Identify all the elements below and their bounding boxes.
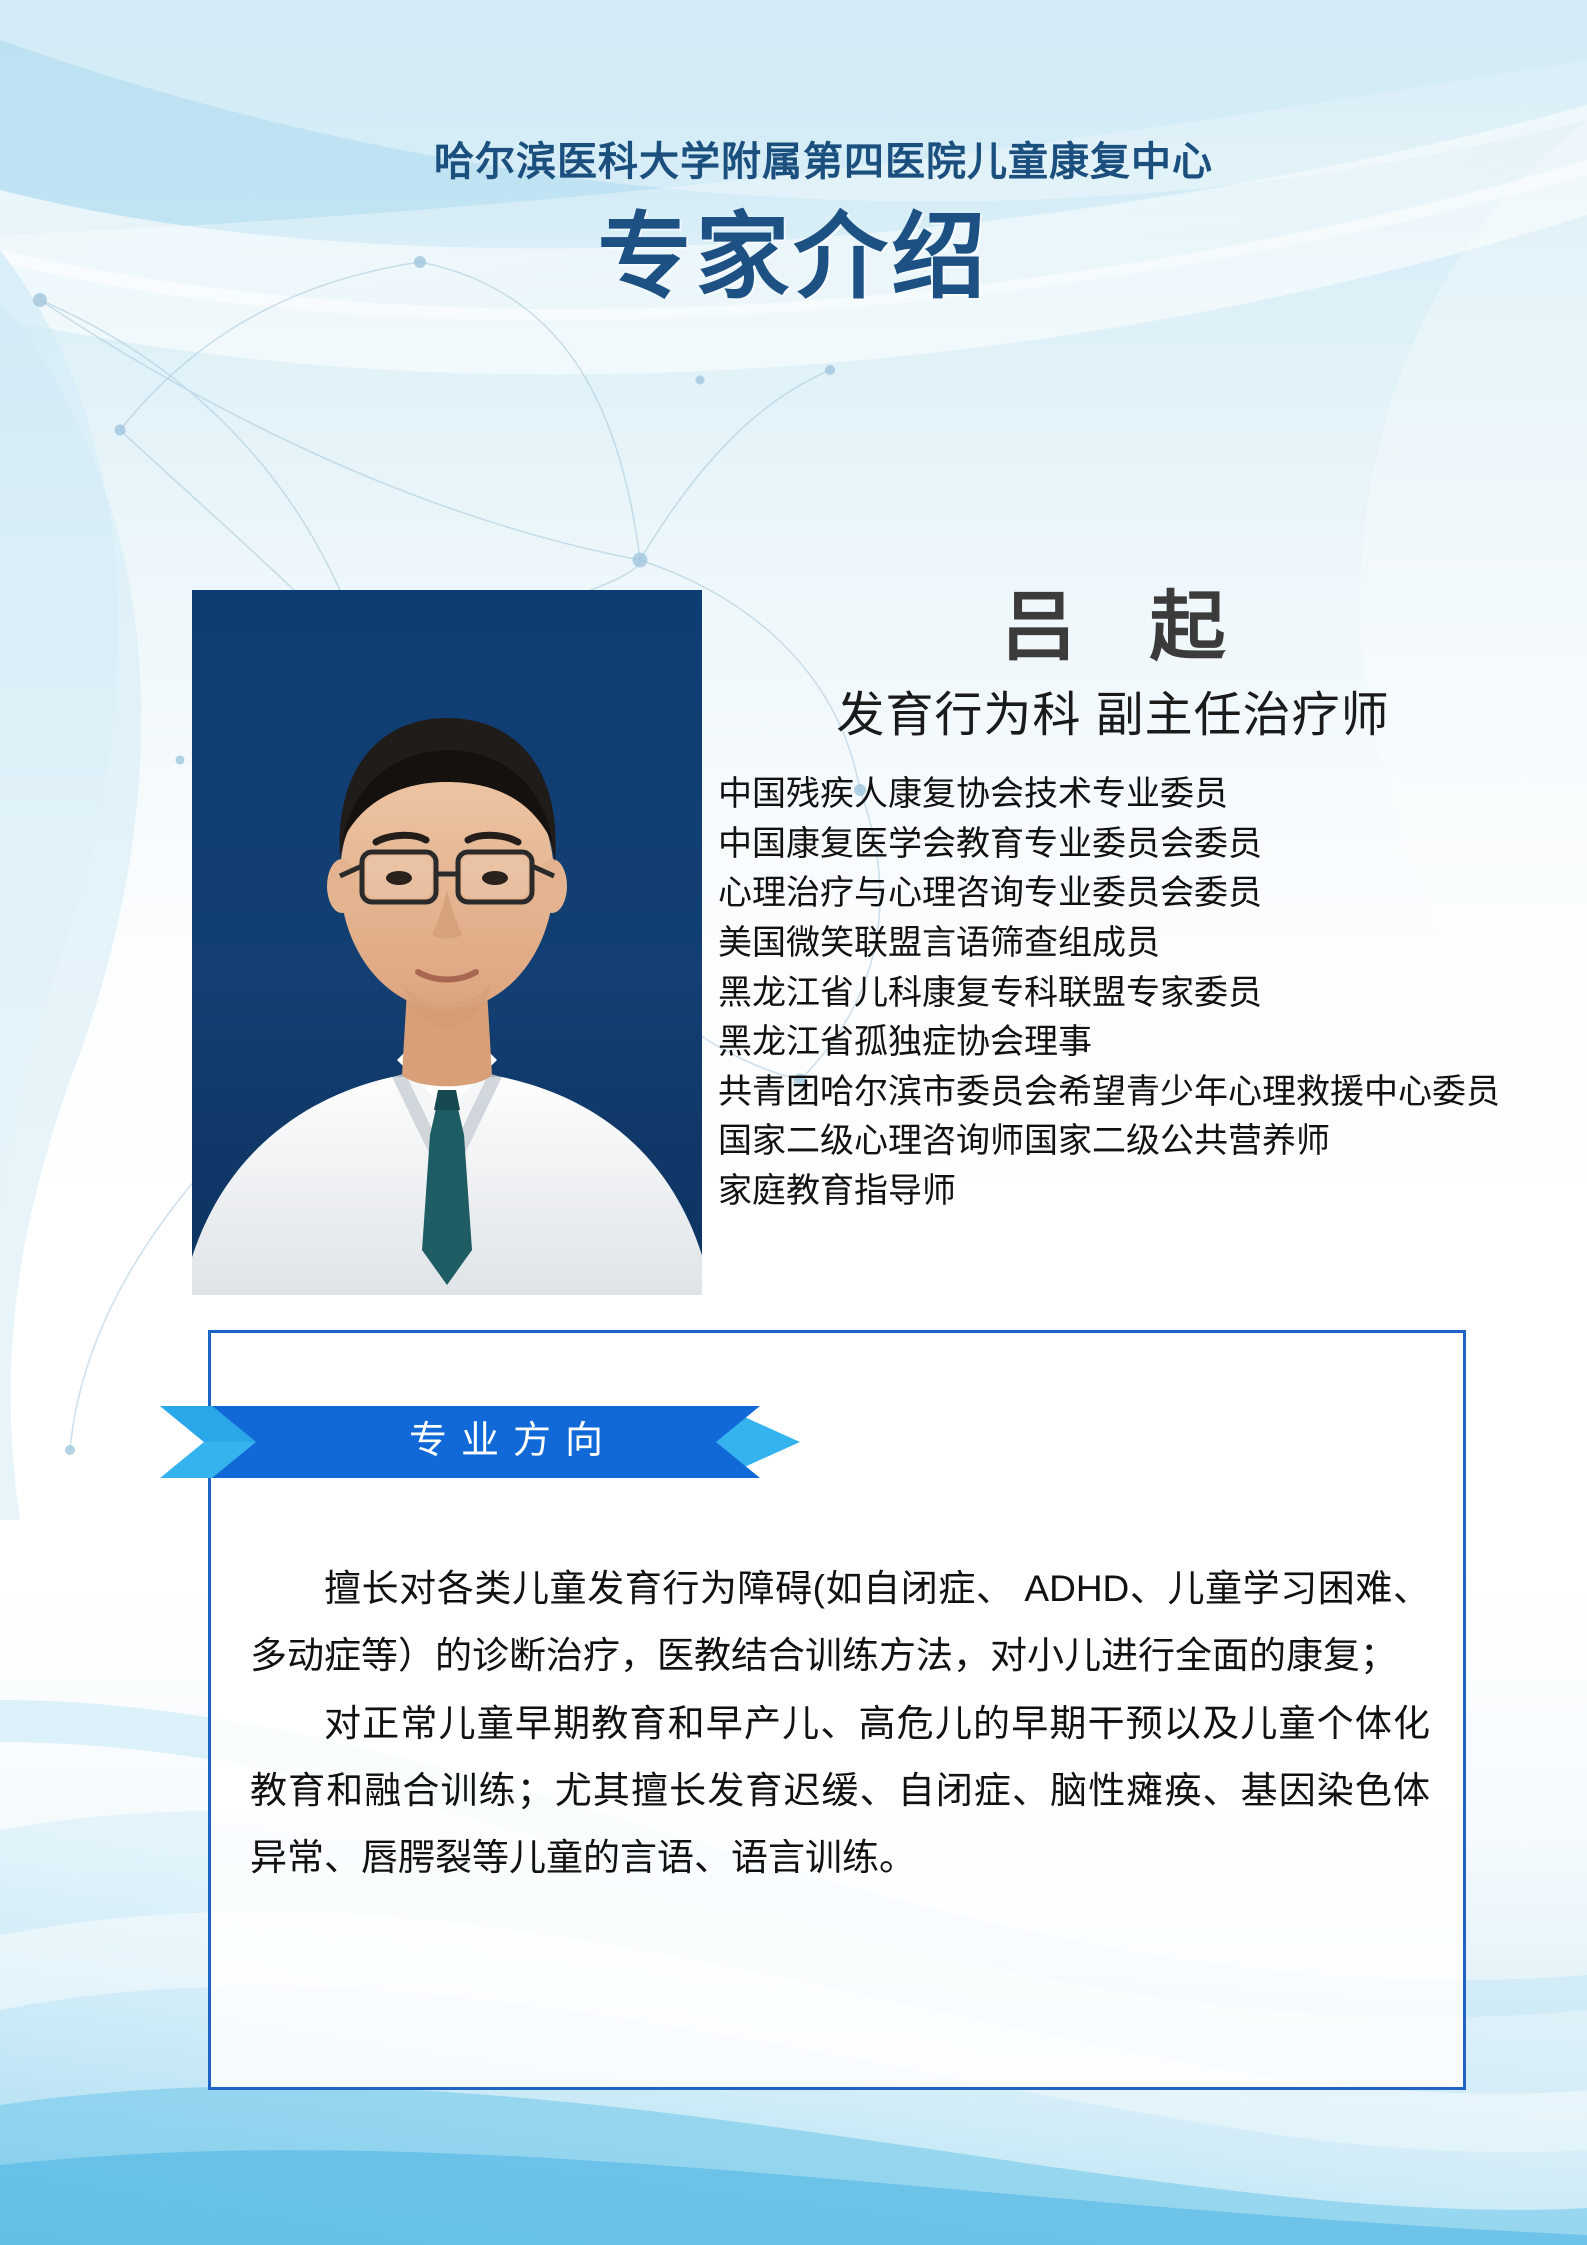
list-item: 中国残疾人康复协会技术专业委员 bbox=[718, 770, 1508, 820]
list-item: 中国康复医学会教育专业委员会委员 bbox=[718, 820, 1508, 870]
list-item: 国家二级心理咨询师国家二级公共营养师 bbox=[718, 1117, 1508, 1167]
institution-name: 哈尔滨医科大学附属第四医院儿童康复中心 bbox=[0, 140, 1587, 184]
credentials-list: 中国残疾人康复协会技术专业委员 中国康复医学会教育专业委员会委员 心理治疗与心理… bbox=[718, 770, 1508, 1217]
avatar bbox=[192, 590, 702, 1295]
profile-section: 吕 起 发育行为科 副主任治疗师 中国残疾人康复协会技术专业委员 中国康复医学会… bbox=[0, 590, 1587, 1310]
list-item: 家庭教育指导师 bbox=[718, 1167, 1508, 1217]
list-item: 美国微笑联盟言语筛查组成员 bbox=[718, 919, 1508, 969]
poster-header: 哈尔滨医科大学附属第四医院儿童康复中心 专家介绍 bbox=[0, 140, 1587, 307]
list-item: 心理治疗与心理咨询专业委员会委员 bbox=[718, 869, 1508, 919]
doctor-role: 发育行为科 副主任治疗师 bbox=[718, 692, 1508, 740]
doctor-name: 吕 起 bbox=[718, 590, 1508, 666]
ribbon-label: 专业方向 bbox=[160, 1392, 800, 1480]
doctor-portrait bbox=[192, 590, 702, 1295]
profile-info: 吕 起 发育行为科 副主任治疗师 中国残疾人康复协会技术专业委员 中国康复医学会… bbox=[718, 590, 1508, 1217]
list-item: 黑龙江省儿科康复专科联盟专家委员 bbox=[718, 969, 1508, 1019]
poster-root: 哈尔滨医科大学附属第四医院儿童康复中心 专家介绍 bbox=[0, 0, 1587, 2245]
section-ribbon: 专业方向 bbox=[160, 1392, 800, 1480]
list-item: 黑龙江省孤独症协会理事 bbox=[718, 1018, 1508, 1068]
list-item: 共青团哈尔滨市委员会希望青少年心理救援中心委员 bbox=[718, 1068, 1508, 1118]
page-title: 专家介绍 bbox=[0, 208, 1587, 307]
specialty-text: 擅长对各类儿童发育行为障碍(如自闭症、 ADHD、儿童学习困难、多动症等）的诊断… bbox=[250, 1555, 1430, 1892]
paragraph: 擅长对各类儿童发育行为障碍(如自闭症、 ADHD、儿童学习困难、多动症等）的诊断… bbox=[250, 1555, 1430, 1690]
paragraph: 对正常儿童早期教育和早产儿、高危儿的早期干预以及儿童个体化教育和融合训练；尤其擅… bbox=[250, 1690, 1430, 1892]
